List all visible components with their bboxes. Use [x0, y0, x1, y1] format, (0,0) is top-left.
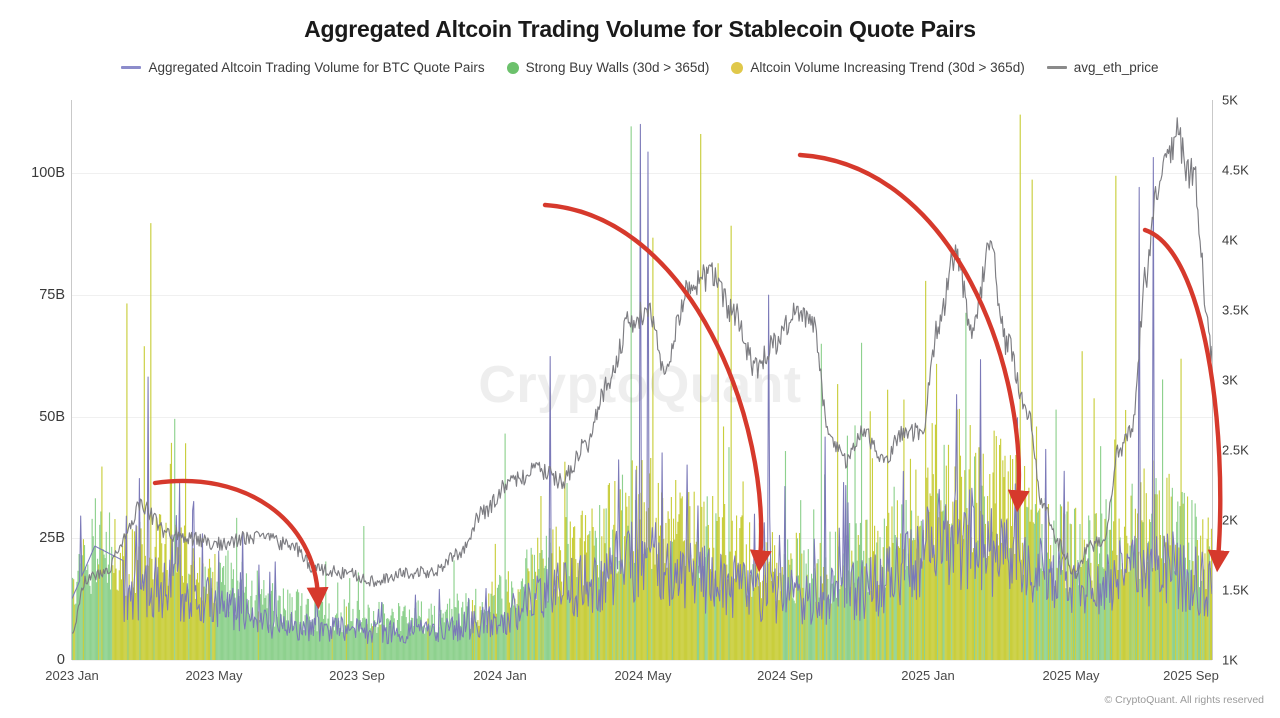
- chart-container: Aggregated Altcoin Trading Volume for St…: [0, 0, 1280, 718]
- trend-arrow-annotation: [1145, 230, 1220, 560]
- trend-arrow-annotation: [800, 155, 1019, 500]
- trend-arrow-annotation: [155, 481, 318, 597]
- annotation-layer: [0, 0, 1280, 718]
- copyright-credit: © CryptoQuant. All rights reserved: [1105, 694, 1264, 706]
- trend-arrow-annotation: [545, 205, 761, 560]
